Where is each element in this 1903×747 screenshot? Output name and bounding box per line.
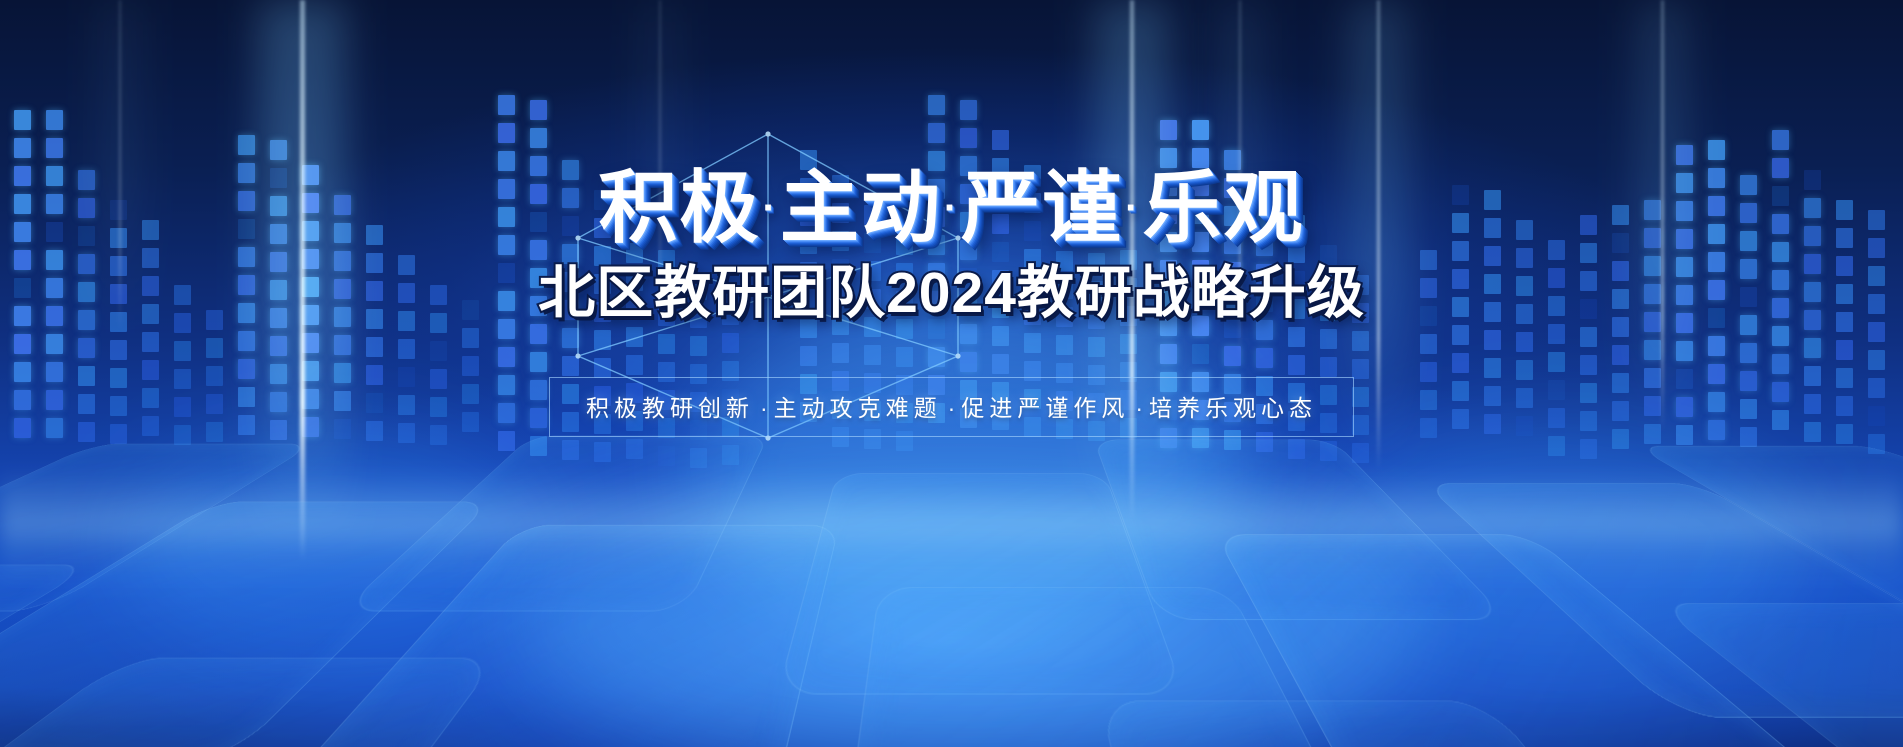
tagline-item-3: 促进严谨作风 [961,395,1129,421]
main-title-word-3: 严谨 [961,163,1123,252]
main-title-separator-1: · [761,186,780,230]
tagline-item-1: 积极教研创新 [586,395,754,421]
banner-sub-title: 北区教研团队2024教研战略升级 [0,265,1903,322]
tagline-item-4: 培养乐观心态 [1149,395,1317,421]
main-title-word-4: 乐观 [1142,163,1304,252]
main-title-word-1: 积极 [599,163,761,252]
main-title-word-2: 主动 [780,163,942,252]
tagline-wrapper: 积极教研创新·主动攻克难题·促进严谨作风·培养乐观心态 [549,377,1354,437]
main-title-separator-3: · [1123,186,1142,230]
banner-content: 积极·主动·严谨·乐观 北区教研团队2024教研战略升级 积极教研创新·主动攻克… [0,0,1903,437]
tagline-item-2: 主动攻克难题 [774,395,942,421]
tagline-separator-2: · [942,395,962,421]
tagline-text: 积极教研创新·主动攻克难题·促进严谨作风·培养乐观心态 [586,389,1317,423]
tagline-separator-3: · [1129,395,1149,421]
tagline-box: 积极教研创新·主动攻克难题·促进严谨作风·培养乐观心态 [549,377,1354,437]
banner-root: 积极·主动·严谨·乐观 北区教研团队2024教研战略升级 积极教研创新·主动攻克… [0,0,1903,747]
tagline-separator-1: · [754,395,774,421]
main-title-separator-2: · [942,186,961,230]
banner-main-title: 积极·主动·严谨·乐观 [0,168,1903,247]
